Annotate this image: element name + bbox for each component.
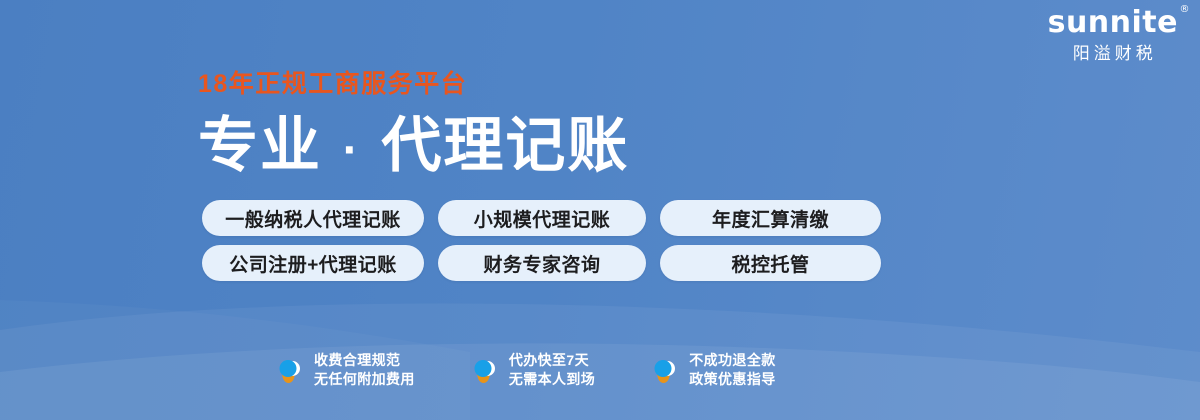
- brand-wordmark: sunnite ®: [1048, 8, 1178, 38]
- promo-banner: sunnite ® 阳溢财税 18年正规工商服务平台 专业 · 代理记账 一般纳…: [0, 0, 1200, 420]
- service-pill-tax-control-hosting[interactable]: 税控托管: [660, 245, 881, 281]
- circle-crescent-icon: [470, 355, 500, 385]
- page-title: 专业 · 代理记账: [198, 116, 958, 176]
- service-pill-small-scale[interactable]: 小规模代理记账: [438, 200, 646, 236]
- service-pill-company-registration[interactable]: 公司注册+代理记账: [202, 245, 424, 281]
- feature-strip: 收费合理规范 无任何附加费用 代办快至7天 无需本人到场: [275, 352, 776, 387]
- service-pill-row-1: 一般纳税人代理记账 小规模代理记账 年度汇算清缴: [202, 200, 881, 236]
- brand-logo[interactable]: sunnite ® 阳溢财税: [1048, 8, 1178, 62]
- feature-item-speed: 代办快至7天 无需本人到场: [470, 352, 595, 387]
- feature-item-pricing: 收费合理规范 无任何附加费用: [275, 352, 415, 387]
- service-pill-grid: 一般纳税人代理记账 小规模代理记账 年度汇算清缴 公司注册+代理记账 财务专家咨…: [202, 200, 881, 281]
- feature-line-1: 代办快至7天: [509, 352, 595, 368]
- service-pill-row-2: 公司注册+代理记账 财务专家咨询 税控托管: [202, 245, 881, 281]
- hero-eyebrow: 18年正规工商服务平台: [198, 72, 958, 97]
- feature-text-speed: 代办快至7天 无需本人到场: [509, 352, 595, 387]
- feature-line-1: 收费合理规范: [314, 352, 415, 368]
- feature-text-guarantee: 不成功退全款 政策优惠指导: [689, 352, 775, 387]
- service-pill-finance-consult[interactable]: 财务专家咨询: [438, 245, 646, 281]
- feature-line-2: 政策优惠指导: [689, 371, 775, 387]
- brand-chinese-name: 阳溢财税: [1048, 45, 1178, 62]
- feature-line-2: 无任何附加费用: [314, 371, 415, 387]
- hero-copy: 18年正规工商服务平台 专业 · 代理记账: [198, 72, 958, 176]
- service-pill-general-taxpayer[interactable]: 一般纳税人代理记账: [202, 200, 424, 236]
- circle-crescent-icon: [275, 355, 305, 385]
- headline-right: 代理记账: [381, 112, 629, 179]
- headline-left: 专业: [198, 112, 322, 179]
- feature-text-pricing: 收费合理规范 无任何附加费用: [314, 352, 415, 387]
- feature-line-2: 无需本人到场: [509, 371, 595, 387]
- service-pill-annual-settlement[interactable]: 年度汇算清缴: [660, 200, 881, 236]
- headline-separator: ·: [341, 124, 363, 177]
- feature-line-1: 不成功退全款: [689, 352, 775, 368]
- registered-trademark-icon: ®: [1180, 5, 1191, 15]
- brand-wordmark-text: sunnite: [1048, 5, 1178, 40]
- feature-item-guarantee: 不成功退全款 政策优惠指导: [650, 352, 775, 387]
- circle-crescent-icon: [650, 355, 680, 385]
